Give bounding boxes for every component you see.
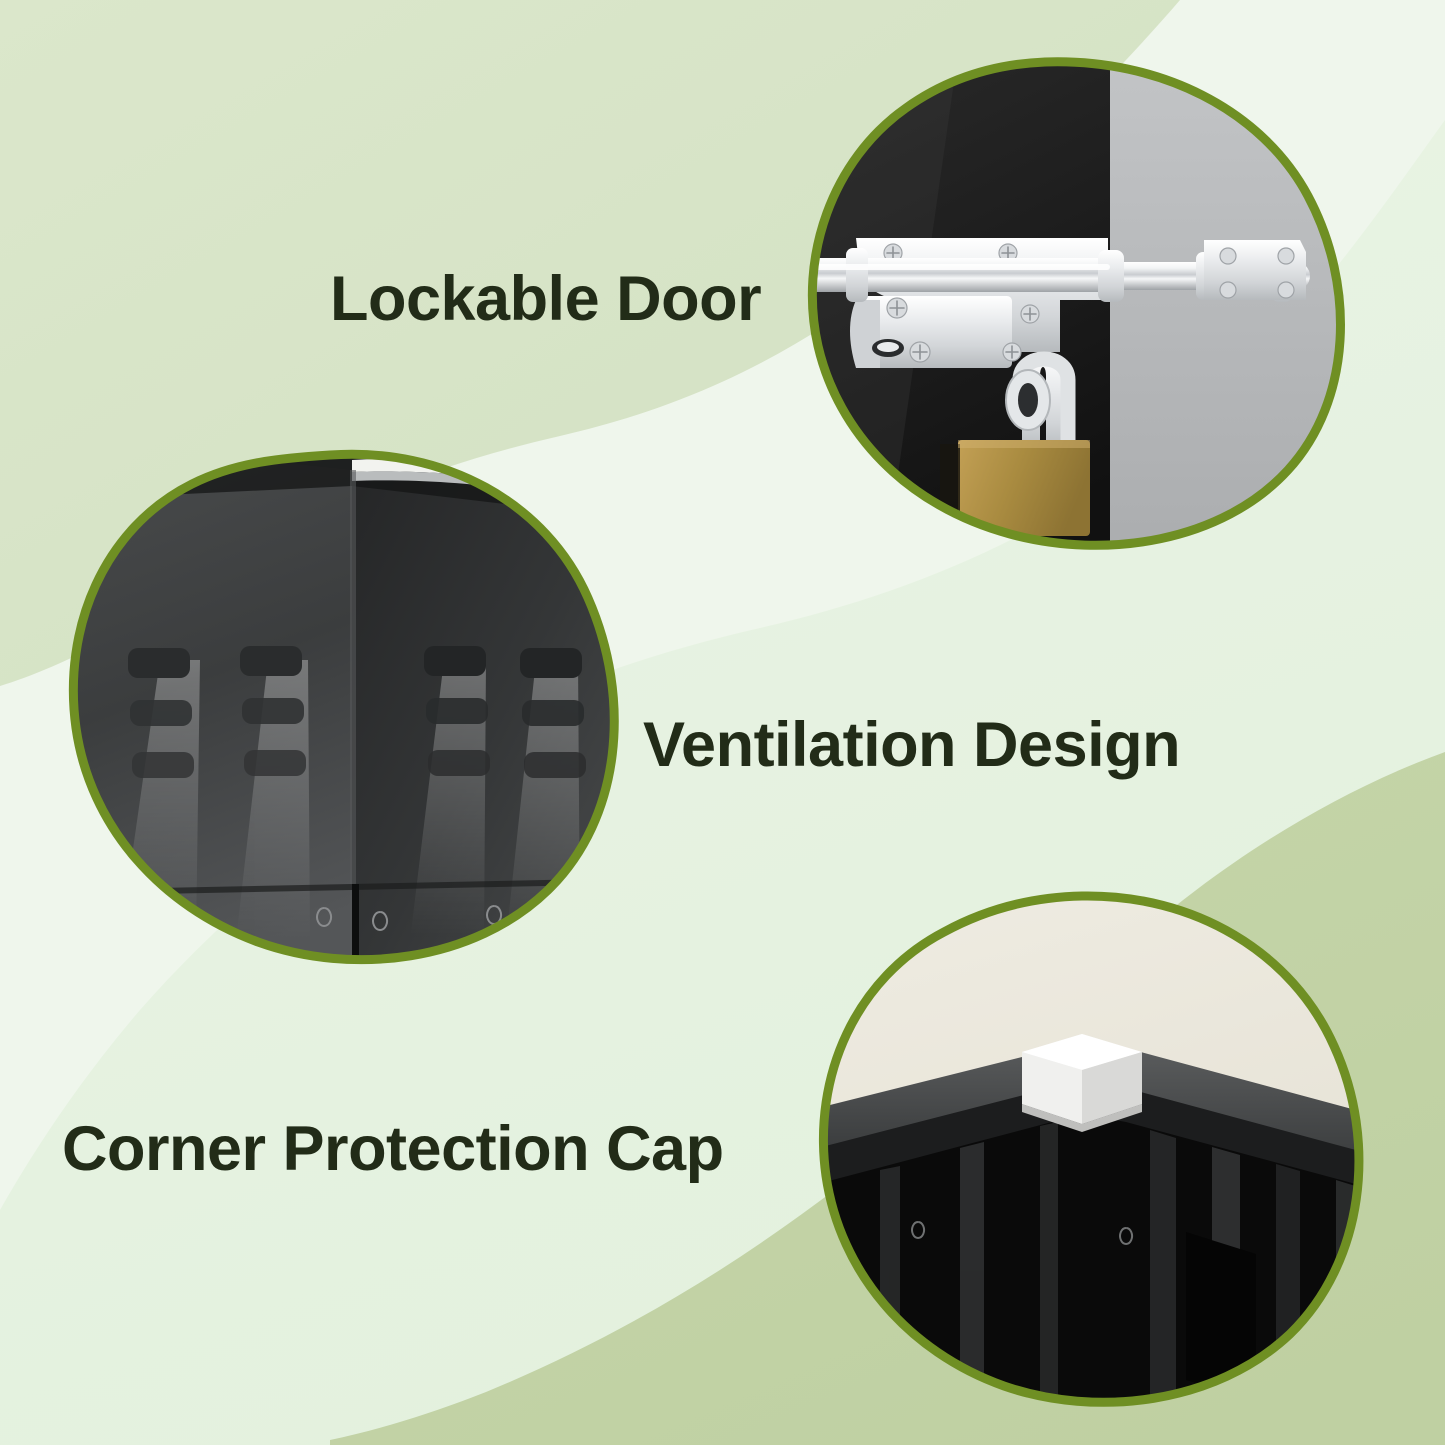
white-corner-cap: [1022, 1034, 1142, 1132]
feature-label-lockable-door: Lockable Door: [330, 263, 761, 335]
feature-label-corner-protection-cap: Corner Protection Cap: [62, 1113, 724, 1185]
infographic-canvas: Lockable Door Ventilation Design Corner …: [0, 0, 1445, 1445]
feature-label-ventilation-design: Ventilation Design: [643, 709, 1180, 781]
